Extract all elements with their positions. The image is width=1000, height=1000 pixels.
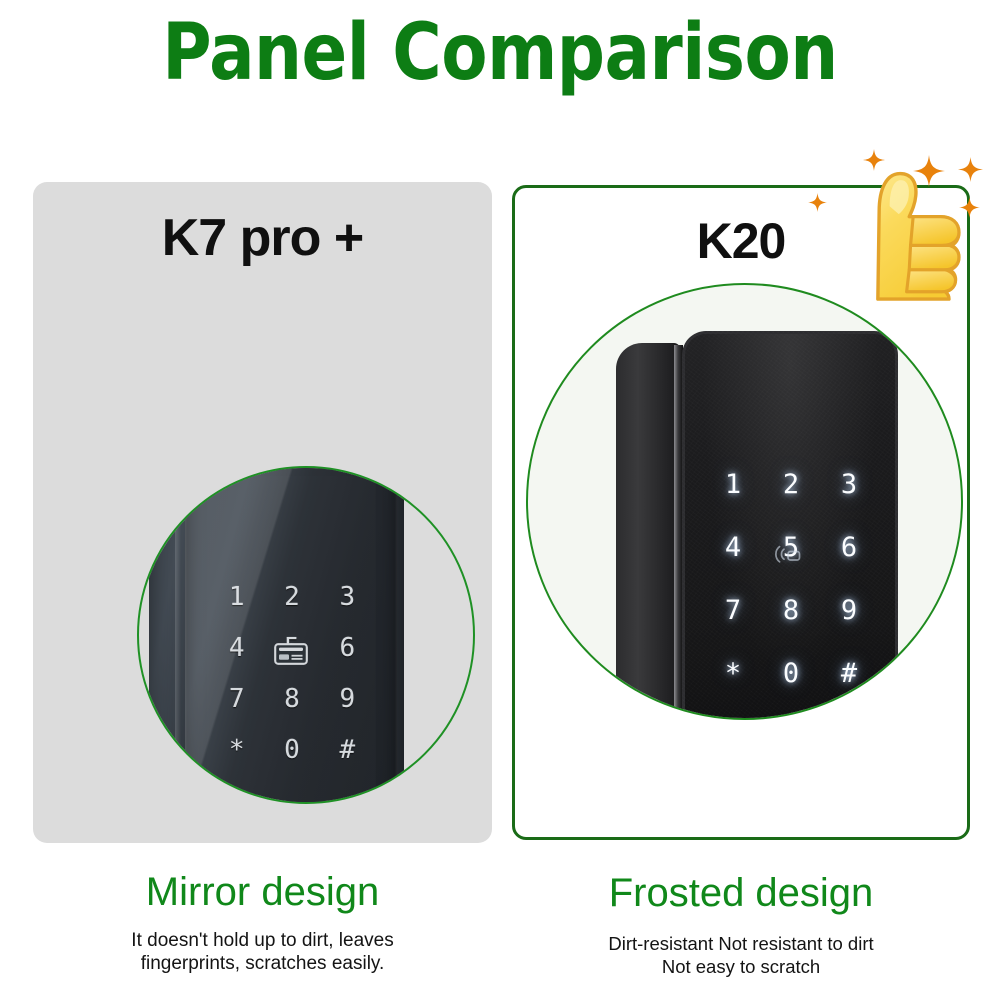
k7-key: 0 xyxy=(264,737,319,763)
k20-key: 1 xyxy=(704,471,762,498)
k20-key: 7 xyxy=(704,597,762,624)
card-title-k7: K7 pro + xyxy=(33,208,492,268)
k20-side-face xyxy=(616,343,680,720)
k20-key: 4 xyxy=(704,534,762,561)
k7-key: 6 xyxy=(320,635,375,661)
k7-keypad: 1 2 3 4 5 6 7 8 9 * 0 # xyxy=(209,584,375,763)
rfid-card-icon xyxy=(274,643,308,670)
k20-key: * xyxy=(704,660,762,687)
k7-bezel-edge xyxy=(175,466,181,804)
k20-keypad: 1 2 3 4 5 6 7 8 9 * 0 # xyxy=(704,471,878,687)
k7-key: 2 xyxy=(264,584,319,610)
card-title-k20: K20 xyxy=(515,212,967,270)
caption-subtext-line: It doesn't hold up to dirt, leaves xyxy=(33,929,492,952)
k7-key: 1 xyxy=(209,584,264,610)
k20-key: 6 xyxy=(820,534,878,561)
k7-key: 8 xyxy=(264,686,319,712)
caption-heading-k7: Mirror design xyxy=(33,870,492,915)
k20-key: 9 xyxy=(820,597,878,624)
product-photo-circle-k7: 1 2 3 4 5 6 7 8 9 * 0 # xyxy=(137,466,475,804)
k20-key: 2 xyxy=(762,471,820,498)
k20-device-body: 1 2 3 4 5 6 7 8 9 * 0 # xyxy=(616,325,906,720)
k20-key: # xyxy=(820,660,878,687)
product-photo-circle-k20: 1 2 3 4 5 6 7 8 9 * 0 # xyxy=(526,283,963,720)
k7-key: 7 xyxy=(209,686,264,712)
caption-subtext-line: Dirt-resistant Not resistant to dirt xyxy=(515,933,967,956)
sparkle-icon xyxy=(958,157,983,182)
k7-key: # xyxy=(320,737,375,763)
k7-glossy-panel: 1 2 3 4 5 6 7 8 9 * 0 # xyxy=(185,466,397,804)
k7-key: 9 xyxy=(320,686,375,712)
k7-device-body: 1 2 3 4 5 6 7 8 9 * 0 # xyxy=(149,466,404,804)
caption-subtext-line: Not easy to scratch xyxy=(515,956,967,979)
k20-key: 3 xyxy=(820,471,878,498)
sparkle-icon xyxy=(913,155,945,187)
k7-key: 4 xyxy=(209,635,264,661)
k7-key: * xyxy=(209,737,264,763)
page-title: Panel Comparison xyxy=(20,14,980,92)
k7-key: 3 xyxy=(320,584,375,610)
caption-heading-k20: Frosted design xyxy=(515,871,967,916)
caption-subtext-k20: Dirt-resistant Not resistant to dirt Not… xyxy=(515,933,967,978)
k20-key: 8 xyxy=(762,597,820,624)
sparkle-icon xyxy=(863,149,885,171)
comparison-card-k7: K7 pro + 1 2 3 4 5 6 7 8 9 * 0 # xyxy=(33,182,492,843)
k20-frosted-panel: 1 2 3 4 5 6 7 8 9 * 0 # xyxy=(682,331,898,720)
caption-subtext-k7: It doesn't hold up to dirt, leaves finge… xyxy=(33,929,492,975)
nfc-wave-icon xyxy=(775,544,805,569)
k20-key: 0 xyxy=(762,660,820,687)
caption-subtext-line: fingerprints, scratches easily. xyxy=(33,952,492,975)
comparison-card-k20: K20 1 2 3 4 5 6 7 8 9 * 0 # xyxy=(512,185,970,840)
